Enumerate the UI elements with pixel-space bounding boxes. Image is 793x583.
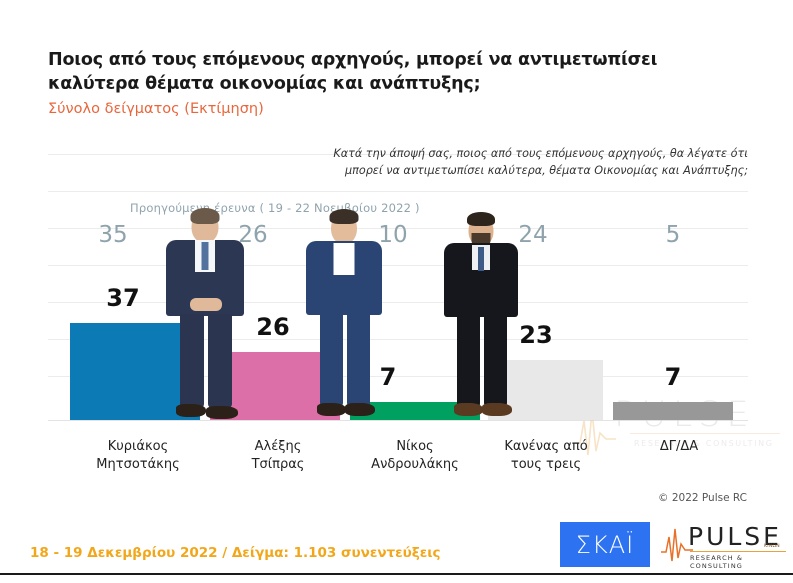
footer-date-sample: 18 - 19 Δεκεμβρίου 2022 / Δείγμα: 1.103 …	[30, 545, 441, 561]
watermark-rule	[630, 433, 780, 434]
footer-divider	[0, 573, 793, 575]
pulse-logo: PULSE KINΩN RESEARCH & CONSULTING	[660, 522, 790, 567]
page-subtitle: Σύνολο δείγματος (Εκτίμηση)	[48, 99, 748, 119]
question-line-1: Κατά την άποψή σας, ποιος από τους επόμε…	[298, 146, 748, 163]
xlabel-line: Κυριάκος	[68, 438, 208, 456]
xlabel-line: Ανδρουλάκης	[340, 456, 490, 474]
question-line-2: μπορεί να αντιμετωπίσει καλύτερα, θέματα…	[298, 163, 748, 180]
chart-plot-area: Κατά την άποψή σας, ποιος από τους επόμε…	[48, 148, 748, 420]
xlabel-line: Κανένας από	[478, 438, 614, 456]
current-value-2: 7	[348, 363, 428, 391]
skai-logo: ΣΚΑΪ	[560, 522, 650, 567]
current-value-4: 7	[633, 363, 713, 391]
current-value-3: 23	[496, 321, 576, 349]
gridline	[48, 191, 748, 192]
xlabel-line: Τσίπρας	[208, 456, 348, 474]
skai-logo-text: ΣΚΑΪ	[576, 531, 634, 559]
poll-chart-page: Ποιος από τους επόμενους αρχηγούς, μπορε…	[0, 0, 793, 583]
photo-androulakis	[444, 215, 518, 420]
xlabel-androulakis: Νίκος Ανδρουλάκης	[340, 438, 490, 474]
pulse-logo-tagline: RESEARCH & CONSULTING	[690, 554, 790, 570]
current-value-0: 37	[78, 284, 168, 312]
xlabel-line: Αλέξης	[208, 438, 348, 456]
pulse-logo-kinon: KINΩN	[764, 544, 780, 549]
page-title-line-2: καλύτερα θέματα οικονομίας και ανάπτυξης…	[48, 72, 748, 96]
copyright-text: © 2022 Pulse RC	[658, 492, 747, 504]
xlabel-tsipras: Αλέξης Τσίπρας	[208, 438, 348, 474]
previous-value-0: 35	[48, 222, 178, 248]
chart-header: Ποιος από τους επόμενους αρχηγούς, μπορε…	[48, 48, 748, 119]
xlabel-line: Μητσοτάκης	[68, 456, 208, 474]
axis-baseline	[48, 420, 748, 421]
bar-dgda	[613, 402, 733, 420]
xlabel-dgda: ΔΓ/ΔΑ	[614, 438, 744, 456]
xlabel-line: τους τρεις	[478, 456, 614, 474]
gridline	[48, 265, 748, 266]
question-text: Κατά την άποψή σας, ποιος από τους επόμε…	[298, 146, 748, 179]
pulse-logo-rule	[690, 551, 786, 552]
xlabel-line: Νίκος	[340, 438, 490, 456]
xlabel-mitsotakis: Κυριάκος Μητσοτάκης	[68, 438, 208, 474]
page-title-line-1: Ποιος από τους επόμενους αρχηγούς, μπορε…	[48, 48, 748, 72]
xlabel-line: ΔΓ/ΔΑ	[614, 438, 744, 456]
previous-value-4: 5	[608, 222, 738, 248]
current-value-1: 26	[233, 313, 313, 341]
xlabel-none-of-three: Κανένας από τους τρεις	[478, 438, 614, 474]
